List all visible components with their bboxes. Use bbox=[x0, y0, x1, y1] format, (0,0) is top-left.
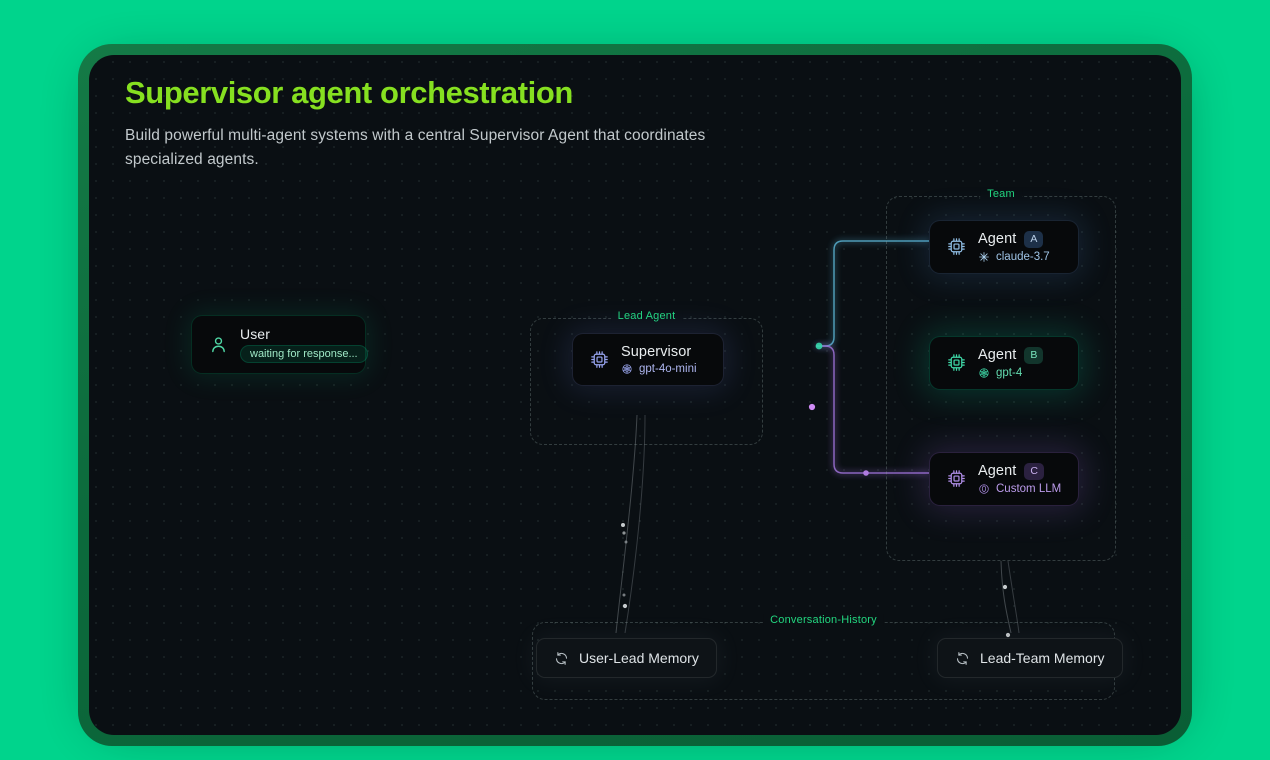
node-agent-b-title: Agent bbox=[978, 347, 1016, 363]
node-agent-c-model: Custom LLM bbox=[996, 483, 1061, 495]
group-team-label: Team bbox=[980, 188, 1022, 200]
chip-icon bbox=[946, 468, 967, 489]
group-lead-agent-label: Lead Agent bbox=[611, 310, 683, 322]
group-conversation-history-label: Conversation-History bbox=[763, 614, 884, 626]
refresh-icon bbox=[554, 651, 569, 666]
app-screen: Supervisor agent orchestration Build pow… bbox=[89, 55, 1181, 735]
screenshot-root: Supervisor agent orchestration Build pow… bbox=[0, 0, 1270, 760]
flow-dot-m6 bbox=[1003, 585, 1007, 589]
openai-icon bbox=[978, 367, 990, 379]
refresh-icon bbox=[955, 651, 970, 666]
node-user-lead-memory[interactable]: User-Lead Memory bbox=[536, 638, 717, 678]
node-user-lead-memory-label: User-Lead Memory bbox=[579, 650, 699, 666]
node-agent-b-badge: B bbox=[1024, 347, 1043, 364]
node-agent-b[interactable]: Agent B gpt-4 bbox=[929, 336, 1079, 390]
node-user[interactable]: User waiting for response... bbox=[191, 315, 366, 374]
custom-llm-icon bbox=[978, 483, 990, 495]
flow-dot-c1 bbox=[809, 404, 815, 410]
node-agent-a-title: Agent bbox=[978, 231, 1016, 247]
flow-dot-m5 bbox=[623, 604, 627, 608]
flow-junction-dot bbox=[816, 343, 823, 350]
chip-icon bbox=[946, 236, 967, 257]
node-supervisor[interactable]: Supervisor gpt-4o-mini bbox=[572, 333, 724, 386]
flow-dot-c2 bbox=[863, 470, 869, 476]
flow-dot-m3 bbox=[625, 541, 628, 544]
node-lead-team-memory[interactable]: Lead-Team Memory bbox=[937, 638, 1123, 678]
flow-dot-m1 bbox=[621, 523, 625, 527]
node-agent-b-model: gpt-4 bbox=[996, 367, 1022, 379]
flow-dot-m4 bbox=[623, 594, 626, 597]
node-agent-a-model: claude-3.7 bbox=[996, 251, 1050, 263]
device-frame: Supervisor agent orchestration Build pow… bbox=[78, 44, 1192, 746]
node-user-status: waiting for response... bbox=[240, 345, 368, 363]
flow-canvas[interactable]: Team Lead Agent Conversation-History bbox=[89, 55, 1181, 735]
chip-icon bbox=[946, 352, 967, 373]
user-icon bbox=[208, 334, 229, 355]
chip-icon bbox=[589, 349, 610, 370]
node-supervisor-title: Supervisor bbox=[621, 344, 691, 360]
node-lead-team-memory-label: Lead-Team Memory bbox=[980, 650, 1105, 666]
node-agent-a[interactable]: Agent A claude-3.7 bbox=[929, 220, 1079, 274]
node-agent-c-badge: C bbox=[1024, 463, 1044, 480]
flow-dot-m2 bbox=[622, 531, 625, 534]
node-agent-a-badge: A bbox=[1024, 231, 1043, 248]
openai-icon bbox=[621, 363, 633, 375]
node-agent-c[interactable]: Agent C Custom LLM bbox=[929, 452, 1079, 506]
node-supervisor-model: gpt-4o-mini bbox=[639, 363, 697, 375]
node-user-title: User bbox=[240, 326, 270, 342]
edge-supervisor-memory-down bbox=[616, 415, 637, 633]
anthropic-sparkle-icon bbox=[978, 251, 990, 263]
node-agent-c-title: Agent bbox=[978, 463, 1016, 479]
